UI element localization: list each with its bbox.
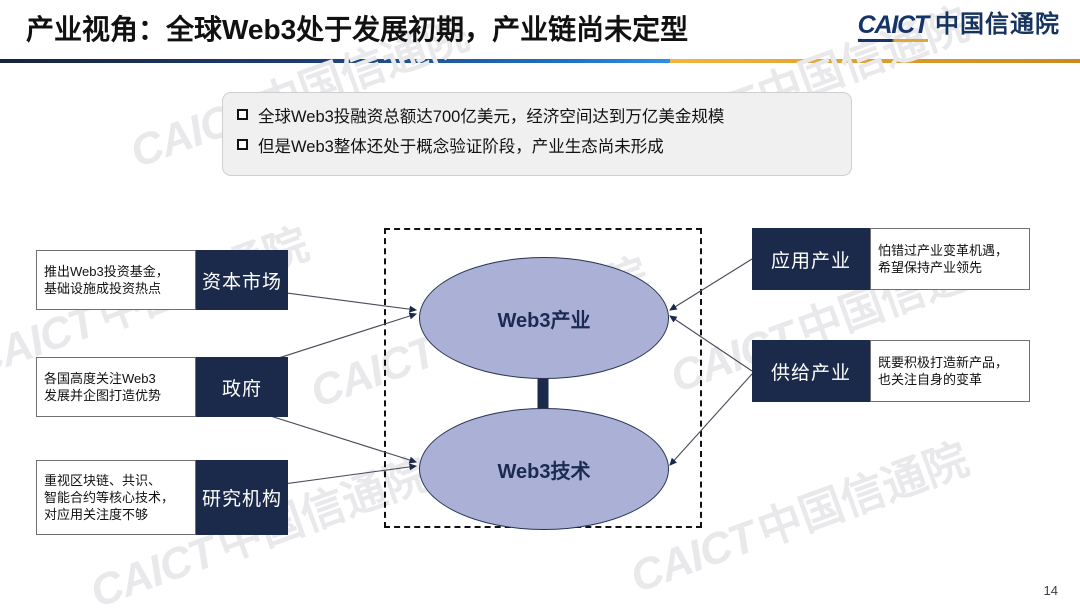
note-line: 对应用关注度不够 [44,506,174,523]
note-line: 智能合约等核心技术， [44,489,174,506]
web3-industry-node[interactable]: Web3产业 [419,257,669,379]
slide-root: CAICT中国信通院 CAICT中国信通院 CAICT中国信通院 CAICT中国… [0,0,1080,608]
capital-market-note: 推出Web3投资基金， 基础设施成投资热点 [36,250,196,310]
web3-industry-label: Web3产业 [498,304,591,333]
divider-gold-segment [670,59,1080,63]
header-divider [0,59,1080,63]
note-line: 发展并企图打造优势 [44,387,161,404]
logo-en-text: CAICT [858,13,928,42]
slide-header: 产业视角：全球Web3处于发展初期，产业链尚未定型 CAICT 中国信通院 [0,0,1080,56]
bullet-text: 但是Web3整体还处于概念验证阶段，产业生态尚未形成 [258,136,664,160]
stakeholder-capital-market[interactable]: 推出Web3投资基金， 基础设施成投资热点 资本市场 [36,250,288,310]
application-industry-label: 应用产业 [752,228,870,290]
connector-app-to-industry [670,259,752,310]
supply-industry-note: 既要积极打造新产品， 也关注自身的变革 [870,340,1030,402]
bullet-item: 全球Web3投融资总额达700亿美元，经济空间达到万亿美金规模 [237,103,837,133]
caict-logo: CAICT 中国信通院 [858,13,1060,42]
key-points-panel: 全球Web3投融资总额达700亿美元，经济空间达到万亿美金规模 但是Web3整体… [222,92,852,176]
note-line: 推出Web3投资基金， [44,263,169,280]
note-line: 重视区块链、共识、 [44,472,174,489]
connector-supply-to-tech [670,374,752,465]
note-line: 也关注自身的变革 [878,371,1008,388]
stakeholder-application-industry[interactable]: 应用产业 怕错过产业变革机遇， 希望保持产业领先 [752,228,1030,290]
research-institute-label: 研究机构 [196,460,288,535]
note-line: 各国高度关注Web3 [44,370,161,387]
note-line: 希望保持产业领先 [878,259,1008,276]
stakeholder-supply-industry[interactable]: 供给产业 既要积极打造新产品， 也关注自身的变革 [752,340,1030,402]
bullet-item: 但是Web3整体还处于概念验证阶段，产业生态尚未形成 [237,133,837,163]
application-industry-note: 怕错过产业变革机遇， 希望保持产业领先 [870,228,1030,290]
supply-industry-label: 供给产业 [752,340,870,402]
government-label: 政府 [196,357,288,417]
divider-blue-segment [0,59,670,63]
connector-supply-to-industry [670,316,752,371]
capital-market-label: 资本市场 [196,250,288,310]
square-bullet-icon [237,109,248,120]
page-number: 14 [1044,583,1058,598]
bullet-text: 全球Web3投融资总额达700亿美元，经济空间达到万亿美金规模 [258,106,724,130]
stakeholder-research-institute[interactable]: 重视区块链、共识、 智能合约等核心技术， 对应用关注度不够 研究机构 [36,460,288,535]
government-note: 各国高度关注Web3 发展并企图打造优势 [36,357,196,417]
logo-cn-text: 中国信通院 [935,13,1060,42]
web3-technology-label: Web3技术 [498,455,591,484]
note-line: 怕错过产业变革机遇， [878,242,1008,259]
square-bullet-icon [237,139,248,150]
stakeholder-government[interactable]: 各国高度关注Web3 发展并企图打造优势 政府 [36,357,288,417]
web3-ecosystem-diagram: Web3产业 Web3技术 推出Web3投资基金， 基础设施成投资热点 资本市场… [0,200,1080,570]
note-line: 基础设施成投资热点 [44,280,169,297]
note-line: 既要积极打造新产品， [878,354,1008,371]
web3-technology-node[interactable]: Web3技术 [419,408,669,530]
page-title: 产业视角：全球Web3处于发展初期，产业链尚未定型 [26,8,688,48]
research-institute-note: 重视区块链、共识、 智能合约等核心技术， 对应用关注度不够 [36,460,196,535]
